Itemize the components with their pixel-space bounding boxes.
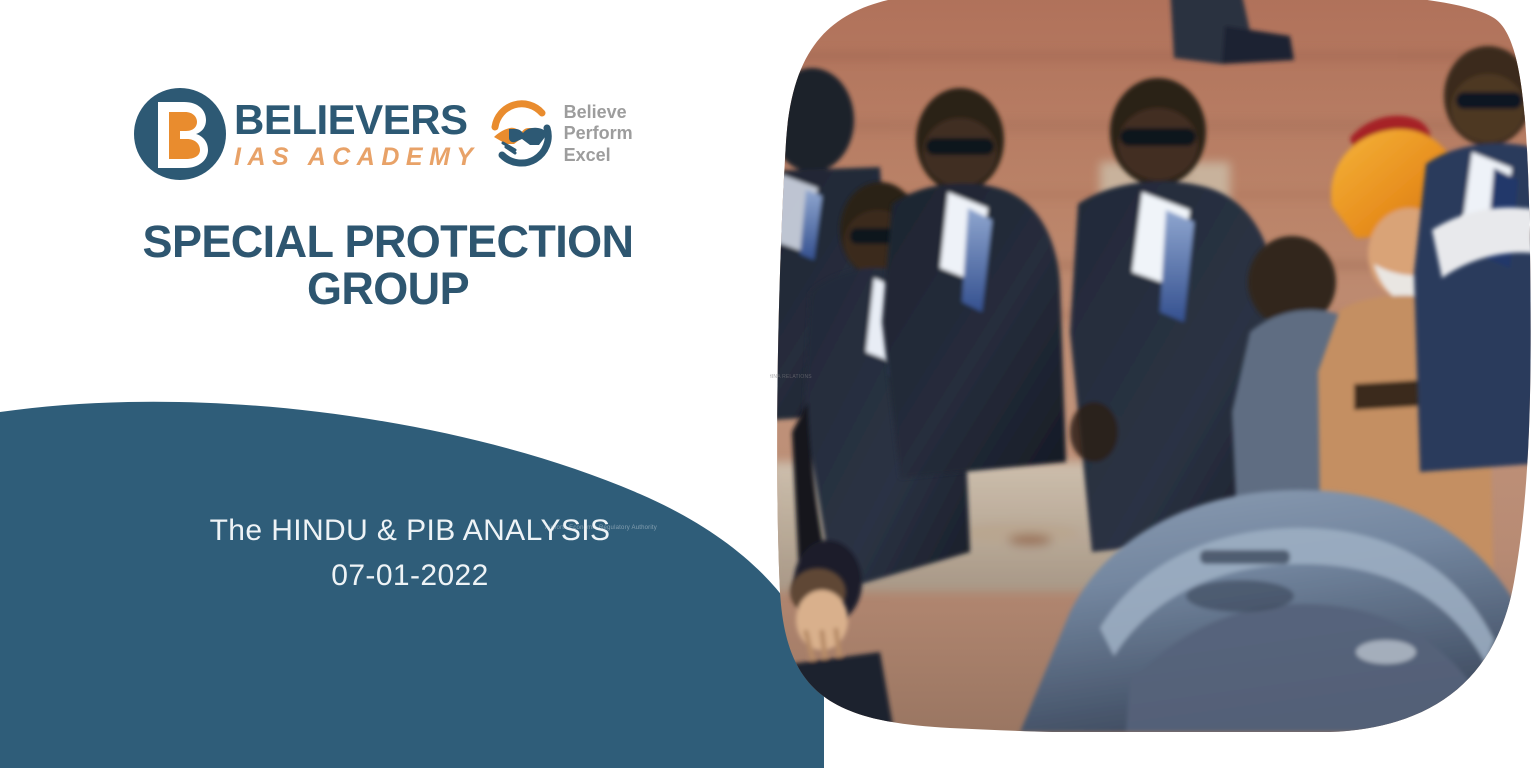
slide-title: SPECIAL PROTECTION GROUP bbox=[130, 218, 646, 313]
handshake-icon bbox=[484, 97, 558, 171]
subtitle-watermark: Airports Economic Regulatory Authority bbox=[545, 525, 657, 531]
subtitle-date-line: 07-01-2022 bbox=[60, 553, 760, 598]
tagline-line-3: Excel bbox=[564, 145, 633, 166]
logo-brand-name: BELIEVERS bbox=[234, 99, 480, 141]
logo-wordmark: BELIEVERS IAS ACADEMY bbox=[234, 99, 480, 170]
slide-subtitle: The HINDU & PIB ANALYSIS 07-01-2022 bbox=[60, 508, 760, 598]
tagline-line-2: Perform bbox=[564, 123, 633, 144]
photo-watermark: INDIA-CHINA RELATIONS bbox=[770, 374, 812, 380]
believers-b-mark-icon bbox=[132, 86, 228, 182]
brand-logo: BELIEVERS IAS ACADEMY Believe Perform Ex… bbox=[132, 82, 638, 186]
logo-tagline: Believe Perform Excel bbox=[564, 102, 633, 166]
slide-title-line-1: SPECIAL PROTECTION bbox=[130, 218, 646, 265]
slide-title-line-2: GROUP bbox=[130, 265, 646, 312]
slide-canvas: BELIEVERS IAS ACADEMY Believe Perform Ex… bbox=[0, 0, 1536, 768]
tagline-line-1: Believe bbox=[564, 102, 633, 123]
header-photo: INDIA-CHINA RELATIONS bbox=[770, 0, 1536, 732]
logo-brand-sub: IAS ACADEMY bbox=[234, 145, 480, 170]
